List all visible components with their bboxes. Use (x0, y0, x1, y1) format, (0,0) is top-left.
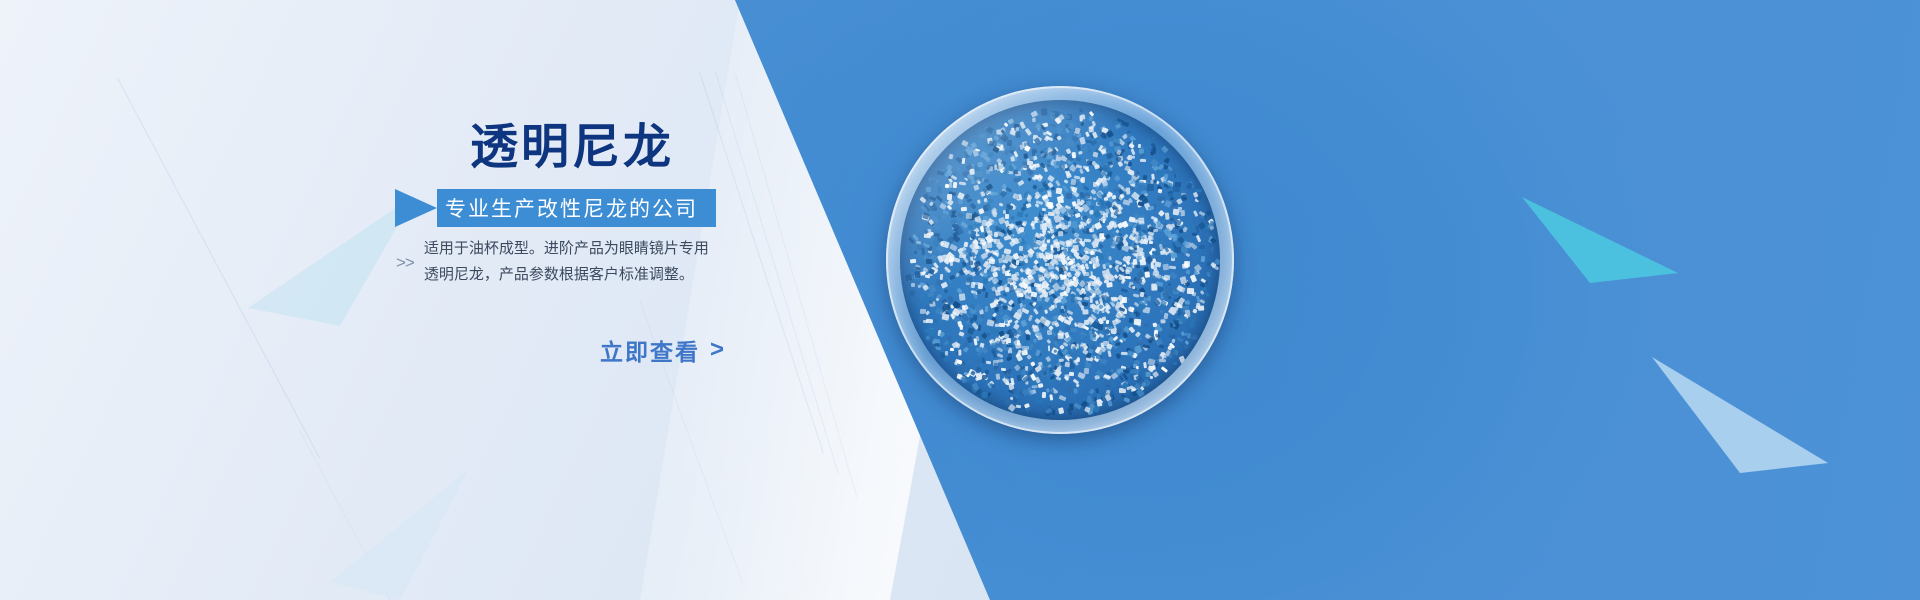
ribbon-label: 专业生产改性尼龙的公司 (437, 189, 716, 227)
view-now-label: 立即查看 (600, 333, 700, 367)
description-row: >> 适用于油杯成型。进阶产品为眼睛镜片专用 透明尼龙，产品参数根据客户标准调整… (396, 236, 709, 288)
hero-text-block: 透明尼龙 专业生产改性尼龙的公司 >> 适用于油杯成型。进阶产品为眼睛镜片专用 … (0, 0, 1100, 600)
hero-banner: 透明尼龙 专业生产改性尼龙的公司 >> 适用于油杯成型。进阶产品为眼睛镜片专用 … (0, 0, 1920, 600)
cyan-triangle-decoration (1520, 195, 1680, 285)
double-chevron-icon: >> (396, 254, 414, 271)
description-line-2: 透明尼龙，产品参数根据客户标准调整。 (424, 262, 709, 288)
chevron-right-icon: > (710, 336, 726, 364)
page-title: 透明尼龙 (470, 124, 674, 172)
description-text: 适用于油杯成型。进阶产品为眼睛镜片专用 透明尼龙，产品参数根据客户标准调整。 (424, 236, 709, 288)
description-line-1: 适用于油杯成型。进阶产品为眼睛镜片专用 (424, 236, 709, 262)
pale-blue-triangle-decoration (1650, 355, 1830, 475)
ribbon-tagline: 专业生产改性尼龙的公司 (395, 189, 716, 227)
view-now-button[interactable]: 立即查看 > (600, 333, 726, 367)
ribbon-arrow-icon (395, 189, 437, 227)
